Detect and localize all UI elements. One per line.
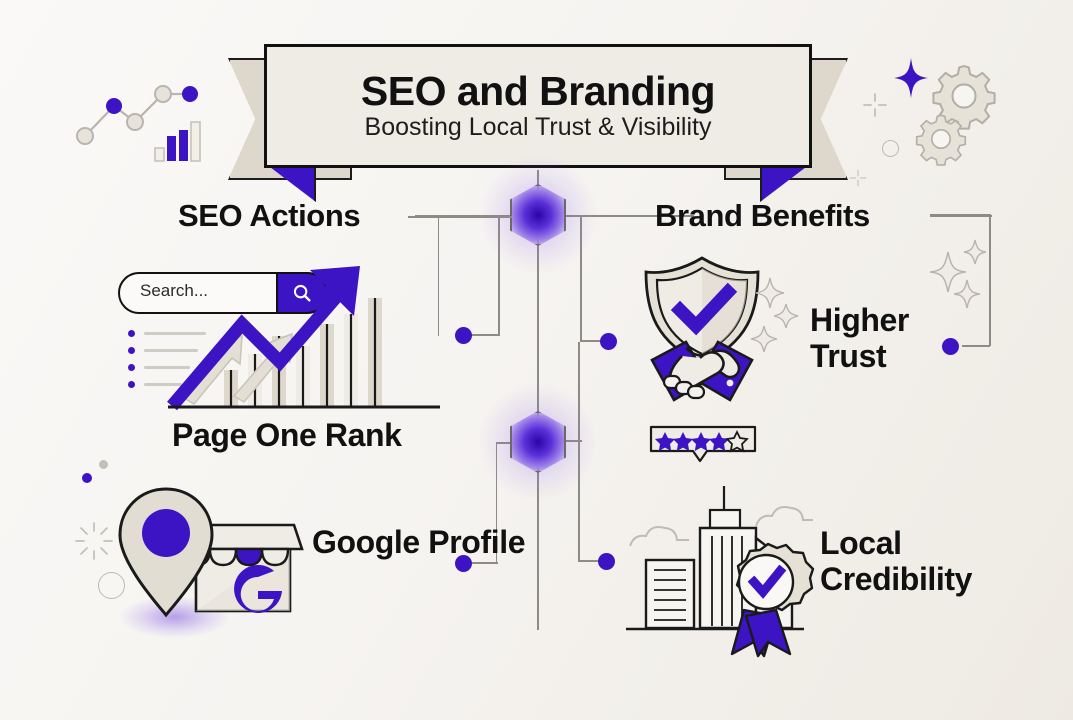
page-subtitle: Boosting Local Trust & Visibility: [365, 114, 712, 142]
item-label-line: Trust: [810, 338, 909, 374]
ribbon-fold-left: [266, 164, 316, 202]
heading-leader-line: [580, 215, 642, 217]
sparkle-star-icon: [952, 278, 982, 310]
connector-line: [468, 562, 498, 564]
sparkle-star-icon: [894, 58, 928, 98]
banner-plate: SEO and Branding Boosting Local Trust & …: [264, 44, 812, 168]
hex-node-top: [510, 184, 566, 246]
item-label-line: Credibility: [820, 561, 972, 597]
item-label-higher-trust: Higher Trust: [810, 302, 909, 375]
shield-handshake-icon: [630, 252, 810, 412]
sparkle-cross-icon: [848, 168, 868, 188]
connector-line: [962, 345, 990, 347]
hex-node-bottom: [510, 411, 566, 473]
connector-line: [470, 334, 500, 336]
heading-leader-line: [930, 215, 992, 217]
burst-sparkle-icon: [74, 521, 114, 561]
growth-chart-icon: [168, 258, 458, 410]
ribbon-fold-right: [760, 164, 810, 202]
section-heading-brand-benefits: Brand Benefits: [655, 198, 870, 234]
sparkle-star-icon: [962, 238, 988, 266]
item-label-line: Higher: [810, 302, 909, 338]
sparkle-cross-icon: [862, 92, 888, 118]
connector-line: [989, 214, 991, 346]
circle-decor-icon: [882, 140, 899, 157]
item-label-google-profile: Google Profile: [312, 524, 525, 560]
item-label-local-credibility: Local Credibility: [820, 525, 972, 598]
item-label-line: Google Profile: [312, 524, 525, 560]
item-label-line: Local: [820, 525, 972, 561]
page-title: SEO and Branding: [361, 71, 715, 112]
item-label-page-one-rank: Page One Rank: [172, 417, 402, 453]
infographic-canvas: SEO and Branding Boosting Local Trust & …: [0, 0, 1073, 720]
heading-leader-line: [408, 216, 512, 218]
mini-bar-chart-decor-icon: [154, 120, 202, 162]
map-pin-storefront-icon: [118, 487, 300, 623]
gear-icon: [914, 112, 968, 166]
buildings-badge-icon: [618, 478, 828, 656]
connector-dot: [942, 338, 959, 355]
section-heading-seo-actions: SEO Actions: [178, 198, 360, 234]
dot-decor: [82, 473, 92, 483]
connector-dot: [598, 553, 615, 570]
circle-decor-icon: [98, 572, 125, 599]
dot-decor: [99, 460, 108, 469]
connector-dot: [600, 333, 617, 350]
star-rating-badge: [648, 424, 758, 464]
